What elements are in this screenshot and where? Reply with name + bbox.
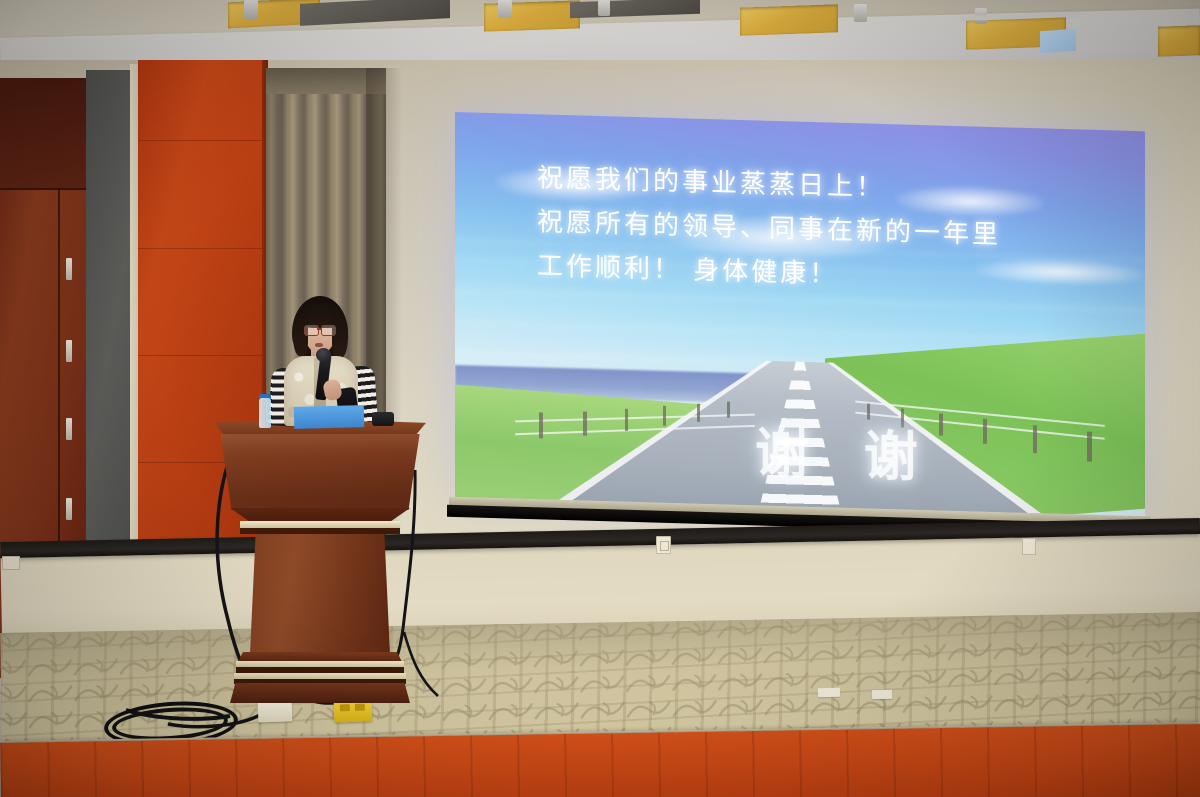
- orange-wall-seam-2: [138, 248, 266, 249]
- door-handle-1[interactable]: [66, 258, 72, 280]
- podium-front-overlay: [214, 434, 426, 504]
- ceiling-spotlight-3: [598, 0, 610, 16]
- water-bottle[interactable]: [259, 398, 271, 428]
- podium-column: [250, 534, 390, 654]
- floor-tape-2: [872, 690, 892, 699]
- floor-tape-1: [818, 688, 840, 697]
- fence-post-left-6: [727, 402, 730, 418]
- podium-dark-trim: [240, 528, 400, 534]
- wall-outlet-left[interactable]: [656, 536, 671, 554]
- conference-hall-photo: 祝愿我们的事业蒸蒸日上！ 祝愿所有的领导、同事在新的一年里 工作顺利！ 身体健康…: [0, 0, 1200, 797]
- door-handle-4[interactable]: [66, 498, 72, 520]
- orange-wall-seam-1: [138, 140, 266, 141]
- mouth: [315, 343, 323, 347]
- podium-light-trim: [240, 521, 400, 528]
- fence-post-right-5: [1033, 425, 1037, 453]
- fence-post-right-4: [983, 419, 987, 444]
- slide-body-text: 祝愿我们的事业蒸蒸日上！ 祝愿所有的领导、同事在新的一年里 工作顺利！ 身体健康…: [537, 156, 1001, 301]
- eyeglasses-left-lens: [304, 325, 319, 336]
- fence-post-left-4: [663, 406, 666, 426]
- projected-slide: 祝愿我们的事业蒸蒸日上！ 祝愿所有的领导、同事在新的一年里 工作顺利！ 身体健康…: [455, 112, 1145, 516]
- fence-post-left-5: [697, 404, 700, 422]
- fence-post-left-1: [539, 412, 543, 438]
- ceiling-spotlight-4: [854, 4, 867, 22]
- door-handle-3[interactable]: [66, 418, 72, 440]
- fence-post-left-3: [625, 409, 628, 431]
- podium-control-device[interactable]: [372, 412, 394, 426]
- ceiling-blue-panel: [1040, 29, 1076, 54]
- wall-outlet-right[interactable]: [1022, 538, 1036, 555]
- ceiling-spotlight-1: [244, 0, 258, 20]
- ceiling-spotlight-2: [498, 0, 512, 18]
- ceiling-panel-5: [1158, 25, 1200, 56]
- blue-folder-on-podium[interactable]: [294, 405, 365, 429]
- orange-wall-seam-3: [138, 355, 266, 356]
- slide-thanks-text: 谢 谢: [755, 408, 936, 492]
- eyeglasses-right-lens: [321, 325, 336, 336]
- fence-post-right-6: [1087, 432, 1092, 462]
- door-handle-2[interactable]: [66, 340, 72, 362]
- ceiling-panel-3: [740, 4, 838, 35]
- door-transom-panel: [0, 78, 86, 190]
- wall-plate-left[interactable]: [2, 556, 20, 570]
- projection-screen: 祝愿我们的事业蒸蒸日上！ 祝愿所有的领导、同事在新的一年里 工作顺利！ 身体健康…: [455, 112, 1145, 516]
- fence-post-left-2: [583, 412, 587, 436]
- podium-plinth: [230, 683, 410, 703]
- fence-post-right-3: [939, 414, 943, 436]
- eyeglasses-bridge: [317, 328, 322, 330]
